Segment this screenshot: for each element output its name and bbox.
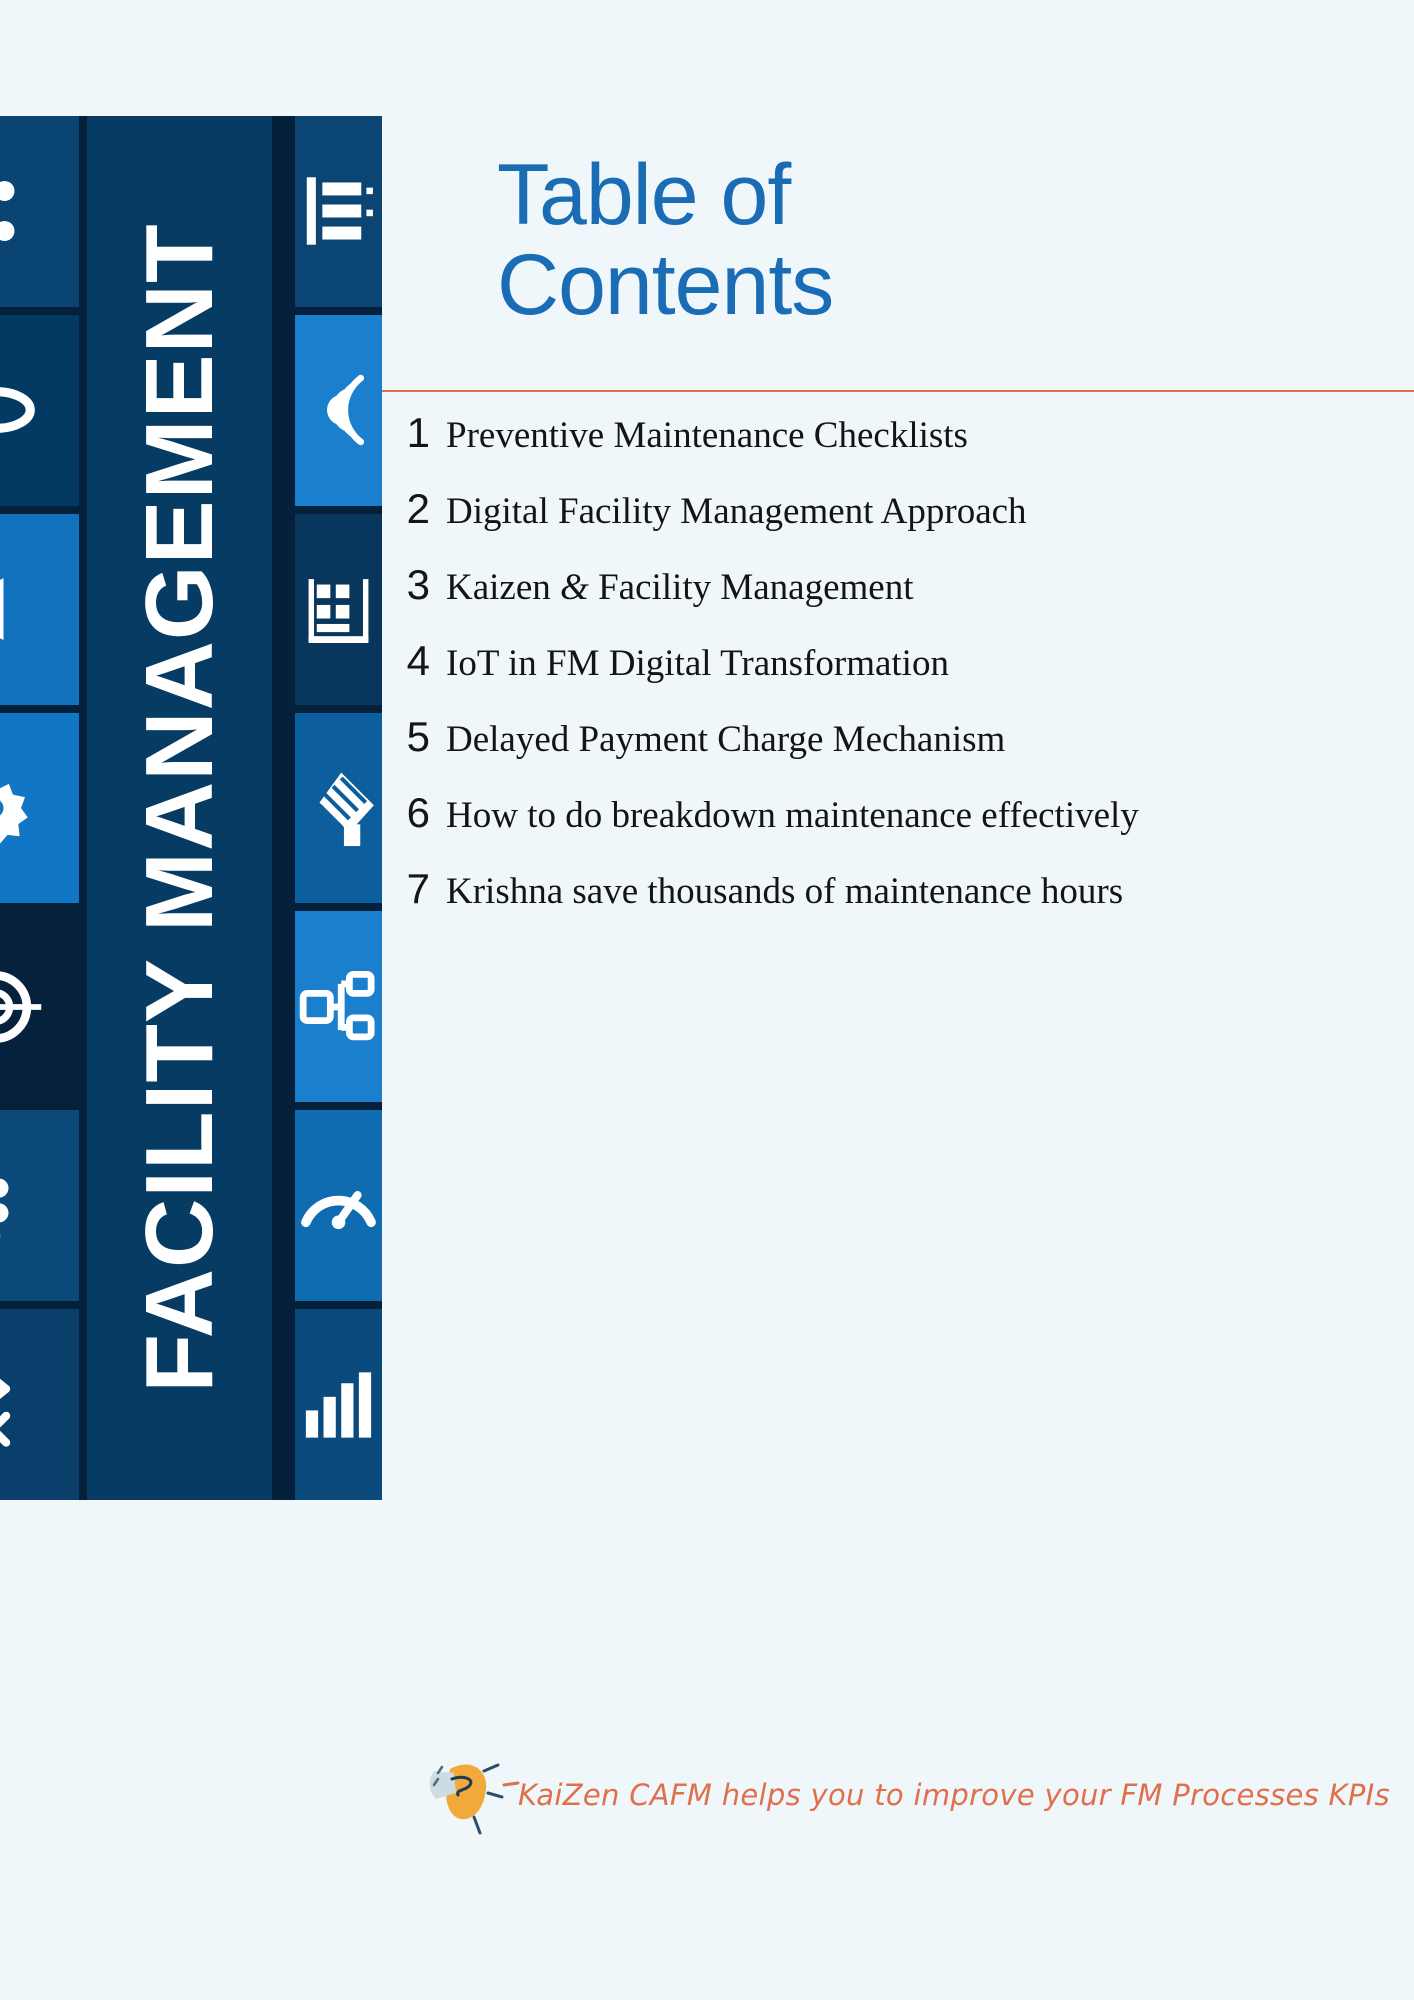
tagline-text: KaiZen CAFM helps you to improve your FM…	[518, 1778, 1390, 1812]
toc-item-label: How to do breakdown maintenance effectiv…	[446, 797, 1139, 834]
toc-item-label: Delayed Payment Charge Mechanism	[446, 721, 1005, 758]
sidebar-right-icon-column	[295, 116, 382, 1500]
toc-list: 1Preventive Maintenance Checklists2Digit…	[382, 412, 1414, 944]
toc-item-number: 4	[382, 640, 446, 682]
toc-item-number: 3	[382, 564, 446, 606]
document-stack-icon	[0, 1110, 79, 1301]
sidebar-vertical-title: FACILITY MANAGEMENT	[132, 223, 228, 1392]
sidebar-graphic-band: FACILITY MANAGEMENT	[0, 116, 382, 1500]
toc-item-number: 7	[382, 868, 446, 910]
speedometer-icon	[295, 1110, 382, 1301]
sidebar-gap-right	[272, 116, 295, 1500]
content-area: Table of Contents 1Preventive Maintenanc…	[382, 0, 1414, 2000]
toc-row[interactable]: 4IoT in FM Digital Transformation	[382, 640, 1414, 716]
molecule-icon	[0, 116, 79, 307]
toc-item-label: IoT in FM Digital Transformation	[446, 645, 949, 682]
title-divider	[382, 390, 1414, 392]
toc-item-number: 6	[382, 792, 446, 834]
sidebar-gap-left	[79, 116, 87, 1500]
server-rack-icon	[295, 116, 382, 307]
toc-item-label: Digital Facility Management Approach	[446, 493, 1027, 530]
lightbulb-icon	[412, 1745, 524, 1845]
handshake-icon	[295, 713, 382, 904]
target-icon	[0, 911, 79, 1102]
megaphone-icon	[0, 514, 79, 705]
gear-icon	[0, 713, 79, 904]
toc-row[interactable]: 5Delayed Payment Charge Mechanism	[382, 716, 1414, 792]
fingerprint-icon	[295, 315, 382, 506]
toc-row[interactable]: 3Kaizen & Facility Management	[382, 564, 1414, 640]
workflow-icon	[295, 911, 382, 1102]
toc-item-number: 1	[382, 412, 446, 454]
building-icon	[295, 514, 382, 705]
toc-item-label: Krishna save thousands of maintenance ho…	[446, 873, 1123, 910]
footer-tagline: KaiZen CAFM helps you to improve your FM…	[412, 1745, 1390, 1845]
toc-row[interactable]: 6How to do breakdown maintenance effecti…	[382, 792, 1414, 868]
toc-item-label: Preventive Maintenance Checklists	[446, 417, 968, 454]
page-canvas: FACILITY MANAGEMENT	[0, 0, 1414, 2000]
sidebar-left-icon-column	[0, 116, 79, 1500]
toc-row[interactable]: 7Krishna save thousands of maintenance h…	[382, 868, 1414, 944]
toc-row[interactable]: 2Digital Facility Management Approach	[382, 488, 1414, 564]
toc-item-number: 2	[382, 488, 446, 530]
page-title: Table of Contents	[497, 150, 997, 331]
toc-item-number: 5	[382, 716, 446, 758]
sidebar-title-panel: FACILITY MANAGEMENT	[87, 116, 272, 1500]
toc-item-label: Kaizen & Facility Management	[446, 569, 914, 606]
page-title-line-1: Table of	[497, 150, 997, 240]
toc-row[interactable]: 1Preventive Maintenance Checklists	[382, 412, 1414, 488]
transfer-arrows-icon	[0, 1309, 79, 1500]
chart-bars-icon	[295, 1309, 382, 1500]
page-title-line-2: Contents	[497, 240, 997, 330]
gauge-icon	[0, 315, 79, 506]
